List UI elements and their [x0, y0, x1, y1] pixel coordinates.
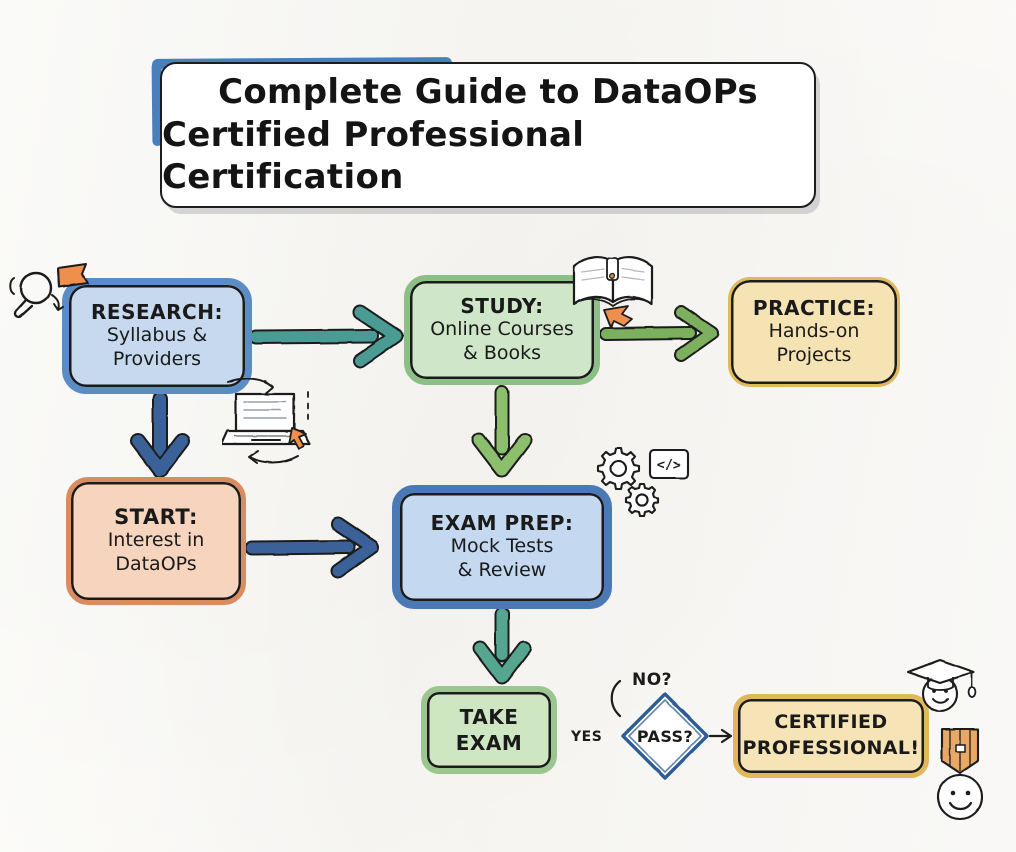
- title-line-1: Complete Guide to DataOPs: [218, 71, 758, 114]
- title-line-2: Certified Professional Certification: [162, 114, 814, 200]
- node-exam-prep-sub-2: & Review: [458, 559, 547, 583]
- arrow-research-to-start: [138, 399, 182, 470]
- arrow-examprep-to-takeexam: [480, 614, 524, 677]
- graduation-cap-icon: [906, 650, 992, 726]
- node-certified-line-2: PROFESSIONAL!: [743, 736, 920, 762]
- node-pass-label: PASS?: [621, 692, 709, 780]
- code-tag-icon: </>: [650, 450, 688, 478]
- open-book-icon: [566, 240, 666, 344]
- node-start[interactable]: START: Interest in DataOPs: [66, 477, 246, 605]
- title-banner: Complete Guide to DataOPs Certified Prof…: [160, 62, 816, 208]
- node-practice-sub-2: Projects: [777, 344, 852, 368]
- laptop-icon: [222, 378, 332, 474]
- node-study-sub-1: Online Courses: [430, 318, 574, 342]
- node-take-exam-line-1: TAKE: [460, 704, 519, 730]
- arrow-start-to-examprep: [252, 524, 372, 571]
- arrow-research-to-study: [256, 312, 396, 361]
- node-study-title: STUDY:: [460, 294, 543, 318]
- edge-label-yes: YES: [571, 729, 602, 745]
- node-practice-sub-1: Hands-on: [769, 320, 860, 344]
- arrow-no-loopback: [612, 681, 620, 716]
- node-exam-prep-sub-1: Mock Tests: [451, 535, 554, 559]
- node-research-title: RESEARCH:: [91, 300, 223, 324]
- node-start-sub-1: Interest in: [108, 529, 205, 553]
- node-practice-title: PRACTICE:: [753, 296, 875, 320]
- magnifier-icon: [8, 252, 104, 348]
- node-start-sub-2: DataOPs: [115, 553, 196, 577]
- svg-text:</>: </>: [657, 458, 681, 473]
- node-start-title: START:: [114, 505, 198, 529]
- gears-icon: </>: [592, 442, 692, 522]
- node-exam-prep-title: EXAM PREP:: [431, 511, 574, 535]
- diagram-canvas: Complete Guide to DataOPs Certified Prof…: [0, 0, 1016, 852]
- edge-label-no: NO?: [632, 670, 672, 690]
- node-study-sub-2: & Books: [463, 342, 541, 366]
- arrow-study-to-examprep: [479, 393, 525, 470]
- node-certified-professional[interactable]: CERTIFIED PROFESSIONAL!: [733, 694, 929, 778]
- node-pass-decision[interactable]: PASS?: [621, 692, 709, 780]
- node-take-exam-line-2: EXAM: [456, 730, 522, 756]
- arrow-pass-to-certified: [710, 730, 731, 742]
- node-exam-prep[interactable]: EXAM PREP: Mock Tests & Review: [392, 485, 612, 609]
- node-research-sub-2: Providers: [113, 348, 201, 372]
- node-practice[interactable]: PRACTICE: Hands-on Projects: [728, 277, 900, 387]
- node-take-exam[interactable]: TAKE EXAM: [421, 686, 557, 774]
- node-research-sub-1: Syllabus &: [107, 324, 207, 348]
- medal-icon: [930, 725, 1006, 833]
- node-certified-line-1: CERTIFIED: [774, 710, 887, 736]
